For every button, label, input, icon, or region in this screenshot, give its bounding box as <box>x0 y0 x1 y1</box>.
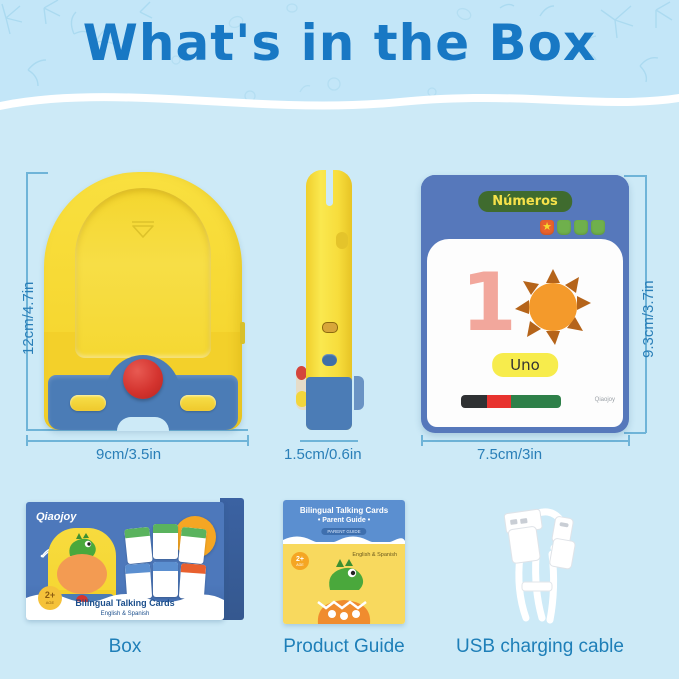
guide-age-unit: AGE <box>296 563 303 567</box>
power-button[interactable] <box>322 354 337 366</box>
flashcard-category-pill: Números <box>478 191 572 212</box>
color-bar-segment <box>461 395 487 408</box>
card-width-guide-line <box>421 440 629 442</box>
card-slot <box>75 188 211 358</box>
device-thickness-label: 1.5cm/0.6in <box>284 446 362 463</box>
guide-subtitle: • Parent Guide • <box>283 517 405 524</box>
device-width-label: 9cm/3.5in <box>96 446 161 463</box>
card-insert-icon <box>130 220 156 238</box>
next-button[interactable] <box>180 395 216 411</box>
device-body <box>44 172 242 430</box>
flashcard: Números ★ 1 Uno <box>421 175 629 433</box>
page-header: What's in the Box <box>0 0 679 112</box>
flashcard-badge-star: ★ <box>540 220 554 235</box>
card-width-tick-right <box>628 435 630 446</box>
usb-c-port-icon <box>322 322 338 333</box>
flashcard-badge-row: ★ <box>540 220 605 235</box>
guide-cover: Bilingual Talking Cards • Parent Guide •… <box>283 500 405 624</box>
side-edge-button[interactable] <box>240 322 245 344</box>
sun-icon <box>515 269 591 345</box>
guide-age-value: 2+ <box>296 556 304 563</box>
previous-button[interactable] <box>70 395 106 411</box>
device-width-guide-line <box>26 440 248 442</box>
usb-charging-cable <box>468 498 618 626</box>
product-guide-booklet: Bilingual Talking Cards • Parent Guide •… <box>283 500 405 624</box>
flashcard-color-bar <box>461 395 561 408</box>
box-age-unit: AGE <box>46 600 54 605</box>
box-card <box>178 527 207 564</box>
box-package: Qiaojoy 120 PCS <box>26 498 244 624</box>
play-button[interactable] <box>123 359 163 399</box>
flashcard-badge <box>574 220 588 235</box>
caption-box: Box <box>26 636 224 658</box>
card-height-label: 9.3cm/3.7in <box>640 280 657 358</box>
guide-body: 2+ AGE English & Spanish <box>283 544 405 624</box>
flashcard-badge <box>557 220 571 235</box>
device-width-tick-right <box>247 435 249 446</box>
device-thickness-guide-line <box>300 440 358 442</box>
box-front-panel: Qiaojoy 120 PCS <box>26 502 224 620</box>
header-wave-divider <box>0 72 679 112</box>
device-front-view <box>44 172 242 430</box>
base-notch <box>117 417 169 431</box>
box-card <box>124 527 153 564</box>
guide-title: Bilingual Talking Cards <box>283 506 405 515</box>
star-icon: ★ <box>542 222 552 233</box>
device-height-label: 12cm/4.7in <box>20 282 37 355</box>
flashcard-number: 1 <box>461 263 517 343</box>
box-age-badge: 2+ AGE <box>38 586 62 610</box>
side-base-peek <box>354 376 364 410</box>
color-bar-segment <box>511 395 561 408</box>
infographic-page: What's in the Box 12cm/4.7in 9cm/3.5in 1… <box>0 0 679 679</box>
side-knob <box>336 232 348 249</box>
box-brand-logo: Qiaojoy <box>36 511 76 523</box>
card-width-label: 7.5cm/3in <box>477 446 542 463</box>
caption-product-guide: Product Guide <box>262 636 426 658</box>
card-height-tick-bottom <box>624 432 646 434</box>
side-slot-gap <box>326 168 333 206</box>
flashcard-brand-mark: Qiaojoy <box>595 397 615 403</box>
box-subtitle: English & Spanish <box>26 611 224 617</box>
dinosaur-icon <box>322 558 366 592</box>
device-side-view <box>296 170 362 430</box>
card-width-tick-left <box>421 435 423 446</box>
flashcard-body: 1 Uno Qiaojoy <box>427 239 623 427</box>
page-title: What's in the Box <box>0 14 679 72</box>
device-side-base <box>306 377 352 430</box>
usb-cable-illustration <box>468 498 618 626</box>
device-width-tick-left <box>26 435 28 446</box>
box-age-value: 2+ <box>45 591 55 600</box>
box-card <box>153 524 178 559</box>
flashcard-word-pill: Uno <box>492 353 558 377</box>
guide-age-badge: 2+ AGE <box>291 552 309 570</box>
caption-usb-cable: USB charging cable <box>432 636 648 658</box>
color-bar-segment <box>487 395 511 408</box>
flashcard-badge <box>591 220 605 235</box>
device-base-band <box>48 375 238 430</box>
